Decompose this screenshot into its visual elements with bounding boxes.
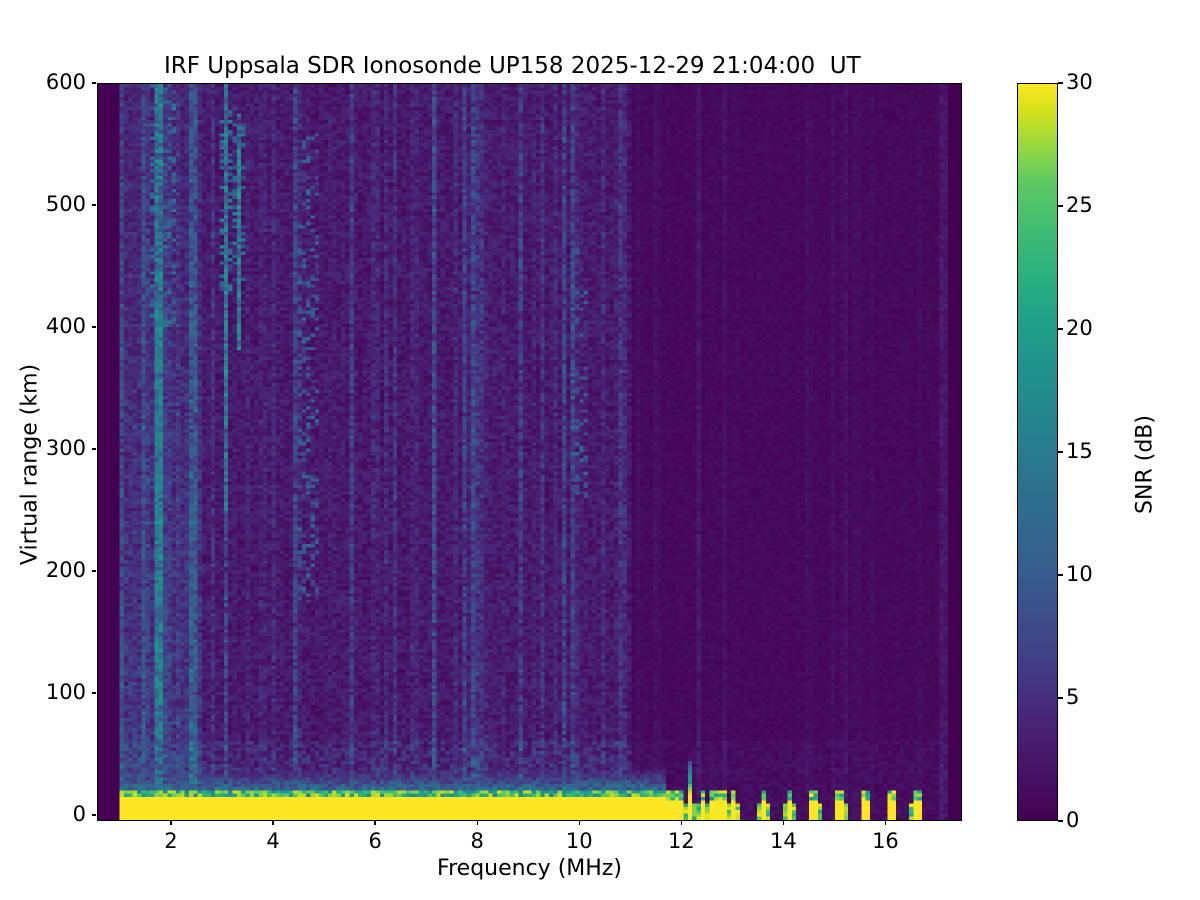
y-axis-tick — [92, 204, 96, 205]
y-axis-tick — [92, 326, 96, 327]
colorbar-tick — [1058, 82, 1063, 83]
x-axis-tick-label: 4 — [243, 829, 303, 853]
x-axis-tick — [170, 821, 171, 825]
chart-title-line1: IRF Uppsala SDR Ionosonde UP158 2025-12-… — [164, 53, 861, 79]
colorbar-tick — [1058, 451, 1063, 452]
colorbar-tick — [1058, 574, 1063, 575]
x-axis-tick-label: 2 — [141, 829, 201, 853]
y-axis-tick — [92, 814, 96, 815]
x-axis-tick — [783, 821, 784, 825]
y-axis-tick — [92, 82, 96, 83]
x-axis-tick-label: 14 — [753, 829, 813, 853]
y-axis-tick-label: 600 — [0, 70, 86, 94]
y-axis-tick — [92, 570, 96, 571]
colorbar-tick — [1058, 697, 1063, 698]
colorbar — [1017, 83, 1058, 821]
x-axis-tick — [579, 821, 580, 825]
x-axis-tick-label: 12 — [651, 829, 711, 853]
x-axis-tick — [885, 821, 886, 825]
heatmap-canvas — [98, 84, 961, 820]
x-axis-tick-label: 10 — [549, 829, 609, 853]
colorbar-tick — [1058, 328, 1063, 329]
ionogram-heatmap — [98, 84, 961, 820]
colorbar-tick — [1058, 205, 1063, 206]
ionogram-plot-area[interactable] — [97, 83, 962, 821]
x-axis-tick-label: 6 — [345, 829, 405, 853]
colorbar-tick-label: 0 — [1066, 808, 1079, 832]
y-axis-tick — [92, 692, 96, 693]
x-axis-tick-label: 8 — [447, 829, 507, 853]
x-axis-tick — [374, 821, 375, 825]
colorbar-tick-label: 30 — [1066, 70, 1093, 94]
y-axis-tick-label: 100 — [0, 680, 86, 704]
colorbar-tick-label: 20 — [1066, 316, 1093, 340]
y-axis-tick — [92, 448, 96, 449]
colorbar-tick-label: 10 — [1066, 562, 1093, 586]
y-axis-tick-label: 500 — [0, 192, 86, 216]
x-axis-tick-label: 16 — [855, 829, 915, 853]
colorbar-tick-label: 5 — [1066, 685, 1079, 709]
x-axis-tick — [477, 821, 478, 825]
y-axis-tick-label: 200 — [0, 558, 86, 582]
y-axis-tick-label: 0 — [0, 802, 86, 826]
x-axis-label: Frequency (MHz) — [97, 856, 962, 881]
colorbar-tick-label: 15 — [1066, 439, 1093, 463]
colorbar-tick — [1058, 820, 1063, 821]
colorbar-label: SNR (dB) — [1133, 305, 1158, 625]
y-axis-tick-label: 400 — [0, 314, 86, 338]
x-axis-tick — [681, 821, 682, 825]
x-axis-tick — [272, 821, 273, 825]
y-axis-tick-label: 300 — [0, 436, 86, 460]
colorbar-tick-label: 25 — [1066, 193, 1093, 217]
